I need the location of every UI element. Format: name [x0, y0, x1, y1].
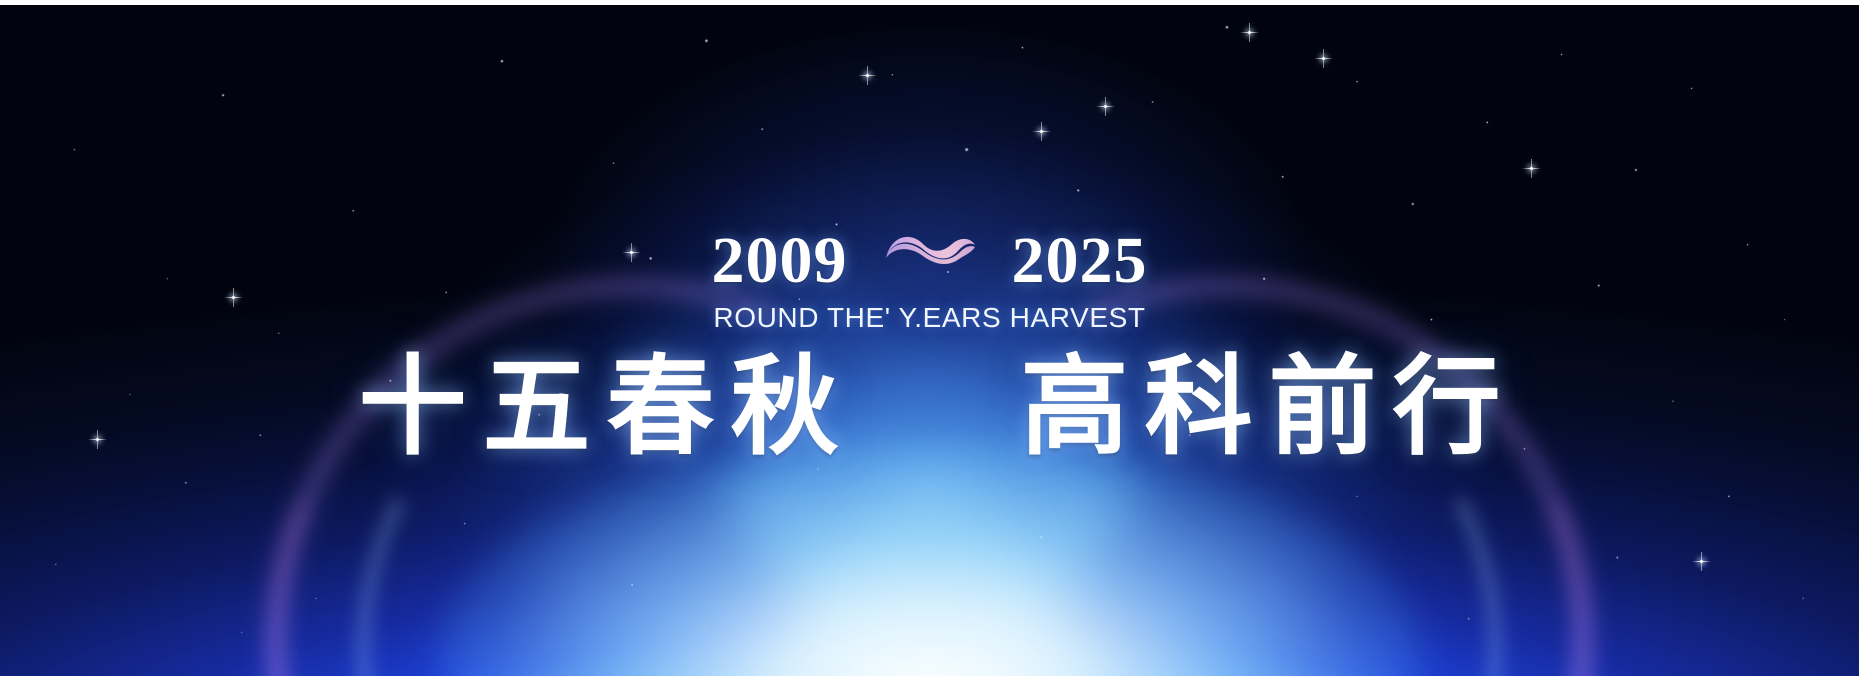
- bottom-edge-strip: [0, 676, 1859, 680]
- top-edge-strip: [0, 0, 1859, 5]
- headline-phrase-right: 高科前行: [1005, 340, 1517, 475]
- wave-tilde-icon: [882, 231, 978, 277]
- banner-subtitle: ROUND THE' Y.EARS HARVEST: [0, 302, 1859, 334]
- year-end: 2025: [1012, 228, 1148, 294]
- year-start: 2009: [712, 228, 848, 294]
- year-range: 2009 2025: [0, 228, 1859, 294]
- headline-phrase-left: 十五春秋: [342, 340, 854, 475]
- banner-content: 2009 2025 ROUND THE': [0, 0, 1859, 680]
- anniversary-banner: 2009 2025 ROUND THE': [0, 0, 1859, 680]
- banner-headline: 十五春秋 高科前行: [0, 340, 1859, 475]
